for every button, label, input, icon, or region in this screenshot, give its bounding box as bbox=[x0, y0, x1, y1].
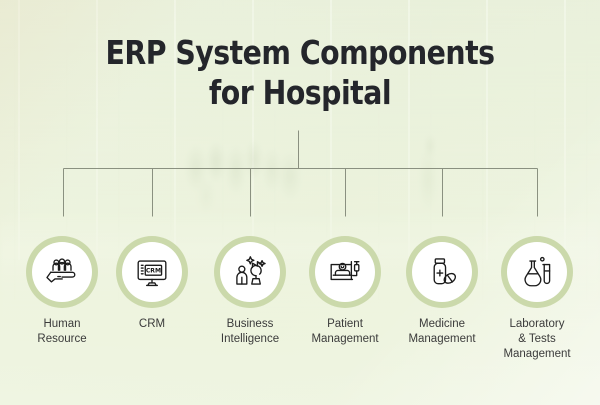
erp-infographic: ERP System Components for Hospital Human… bbox=[0, 0, 600, 405]
component-circle-crm[interactable]: CRM bbox=[116, 236, 188, 308]
component-node-row: Human Resource CRM CRM Business Intellig… bbox=[0, 236, 600, 386]
component-circle-inner-laboratory-tests-management bbox=[507, 242, 567, 302]
svg-text:CRM: CRM bbox=[146, 267, 161, 274]
medicine-bottle-pills-icon bbox=[425, 255, 459, 289]
component-label-laboratory-tests-management: Laboratory & Tests Management bbox=[483, 317, 591, 362]
lab-flask-test-tube-icon bbox=[520, 255, 554, 289]
component-node-patient-management[interactable]: Patient Management bbox=[291, 236, 399, 347]
patient-bed-icon bbox=[328, 255, 362, 289]
crm-monitor-icon: CRM bbox=[135, 255, 169, 289]
component-label-business-intelligence: Business Intelligence bbox=[196, 317, 304, 347]
component-node-laboratory-tests-management[interactable]: Laboratory & Tests Management bbox=[483, 236, 591, 362]
component-node-business-intelligence[interactable]: Business Intelligence bbox=[196, 236, 304, 347]
component-label-medicine-management: Medicine Management bbox=[388, 317, 496, 347]
component-circle-laboratory-tests-management[interactable] bbox=[501, 236, 573, 308]
component-circle-medicine-management[interactable] bbox=[406, 236, 478, 308]
business-intelligence-icon bbox=[233, 255, 267, 289]
component-circle-business-intelligence[interactable] bbox=[214, 236, 286, 308]
component-node-medicine-management[interactable]: Medicine Management bbox=[388, 236, 496, 347]
people-in-hand-icon bbox=[45, 255, 79, 289]
component-circle-inner-human-resource bbox=[32, 242, 92, 302]
component-label-patient-management: Patient Management bbox=[291, 317, 399, 347]
component-circle-inner-medicine-management bbox=[412, 242, 472, 302]
component-circle-inner-crm: CRM bbox=[122, 242, 182, 302]
component-circle-human-resource[interactable] bbox=[26, 236, 98, 308]
component-circle-patient-management[interactable] bbox=[309, 236, 381, 308]
component-node-crm[interactable]: CRM CRM bbox=[98, 236, 206, 332]
component-circle-inner-business-intelligence bbox=[220, 242, 280, 302]
component-label-crm: CRM bbox=[98, 317, 206, 332]
component-circle-inner-patient-management bbox=[315, 242, 375, 302]
